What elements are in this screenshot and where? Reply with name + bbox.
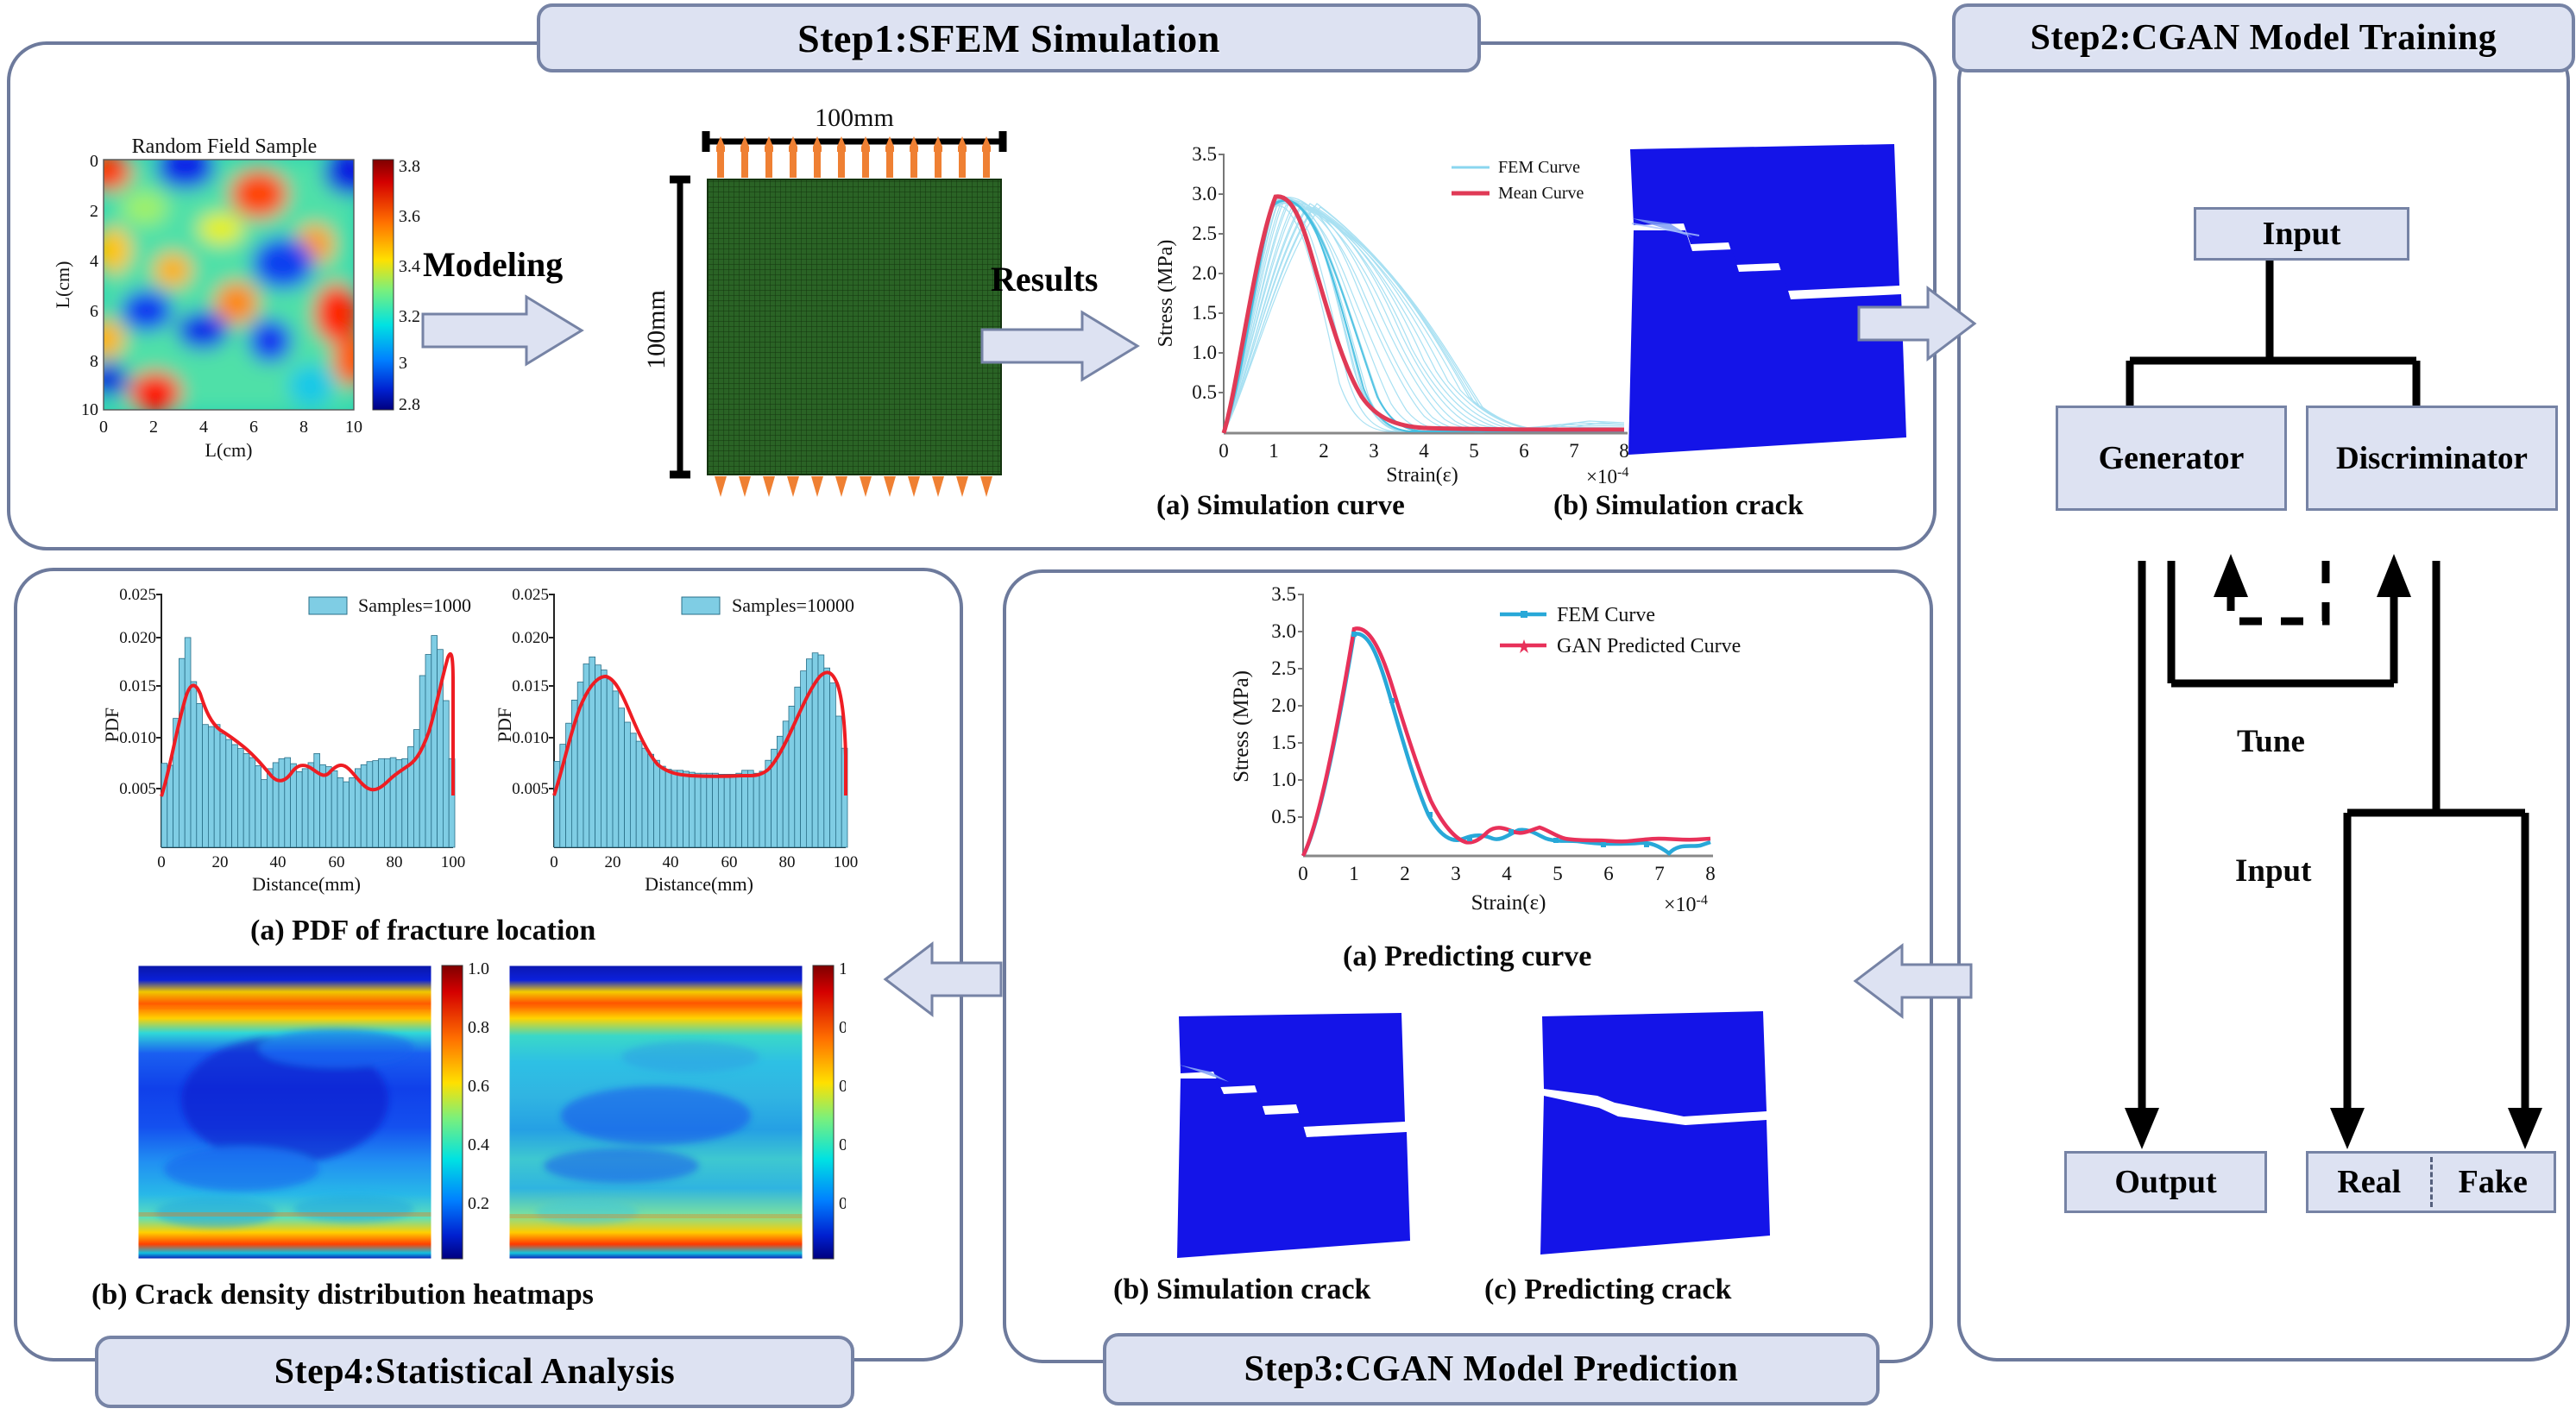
step2-label: Step2:CGAN Model Training	[1952, 3, 2575, 72]
pdf1-ytick-0.020: 0.020	[119, 629, 156, 647]
pc-legend: FEM Curve GAN Predicted Curve	[1500, 604, 1741, 657]
simulation-curve-chart: 3.5 3.0 2.5 2.0 1.5 1.0 0.5 0 1 2 3 4 5 …	[1148, 129, 1683, 492]
hm-left-tick-0.6: 0.6	[468, 1077, 489, 1096]
cgan-node-real-fake[interactable]: Real Fake	[2306, 1151, 2556, 1213]
sc-xtick-1: 1	[1269, 440, 1279, 462]
pdf1-ytick-0.015: 0.015	[119, 677, 156, 695]
rf-cbar-3: 3	[399, 354, 407, 373]
step4-label: Step4:Statistical Analysis	[95, 1336, 854, 1408]
pdf1-xlabel: Distance(mm)	[252, 873, 361, 895]
cgan-node-real: Real	[2308, 1163, 2430, 1201]
pdf1-legend-label: Samples=1000	[358, 594, 471, 616]
pc-xtick-5: 5	[1553, 863, 1563, 884]
pdf1-xtick-40: 40	[270, 853, 287, 871]
predicting-curve-chart: 3.5 3.0 2.5 2.0 1.5 1.0 0.5 0 1 2 3 4 5 …	[1208, 580, 1812, 934]
pdf1-xtick-80: 80	[387, 853, 403, 871]
pc-ytick-0.5: 0.5	[1271, 806, 1296, 827]
rf-ytick-2: 2	[90, 202, 98, 221]
rf-cbar-2.8: 2.8	[399, 395, 420, 414]
specimen-model: 100mm 100mm	[604, 104, 1053, 509]
random-field-chart: Random Field Sample	[52, 134, 466, 496]
specimen-width-label: 100mm	[815, 104, 894, 132]
pdf2-xtick-80: 80	[779, 853, 796, 871]
pdf-chart-samples-1000: 0.025 0.020 0.015 0.010 0.005 0 20 40 60…	[91, 587, 488, 915]
results-arrow-icon	[980, 309, 1140, 383]
rf-xtick-8: 8	[299, 418, 308, 437]
pc-xtick-2: 2	[1400, 863, 1410, 884]
pc-ylabel: Stress (MPa)	[1230, 670, 1253, 783]
predicting-crack-image-step3	[1532, 1006, 1791, 1273]
pc-fem-curve	[1303, 633, 1710, 856]
specimen-height-label: 100mm	[642, 290, 671, 369]
pc-xtick-7: 7	[1654, 863, 1665, 884]
rf-ytick-0: 0	[90, 152, 98, 171]
sc-legend-mean: Mean Curve	[1498, 184, 1584, 203]
modeling-arrow-icon	[421, 293, 585, 368]
simulation-crack-image-step3	[1167, 1006, 1426, 1273]
pc-xlabel: Strain(ε)	[1471, 891, 1546, 915]
step1-caption-b: (b) Simulation crack	[1553, 490, 1804, 522]
rf-ylabel: L(cm)	[52, 261, 73, 309]
rf-xtick-2: 2	[149, 418, 158, 437]
pdf1-xtick-0: 0	[157, 853, 166, 871]
pdf1-ylabel: PDF	[101, 707, 123, 742]
sc-ylabel: Stress (MPa)	[1155, 240, 1177, 348]
step3-to-step4-arrow	[882, 940, 1003, 1018]
cgan-label-input-bottom: Input	[2235, 852, 2311, 890]
pc-xtick-6: 6	[1603, 863, 1614, 884]
pdf2-xlabel: Distance(mm)	[645, 873, 753, 895]
pdf1-ytick-0.025: 0.025	[119, 587, 156, 604]
sc-ytick-3.0: 3.0	[1192, 183, 1217, 204]
pc-xtick-4: 4	[1502, 863, 1512, 884]
pdf1-xtick-100: 100	[441, 853, 466, 871]
pdf2-xtick-60: 60	[721, 853, 738, 871]
pc-xtick-8: 8	[1705, 863, 1716, 884]
cgan-label-tune: Tune	[2237, 723, 2305, 760]
pdf1-xtick-20: 20	[212, 853, 229, 871]
sc-xtick-7: 7	[1569, 440, 1579, 462]
results-arrow-label: Results	[991, 259, 1098, 299]
cgan-node-output[interactable]: Output	[2064, 1151, 2267, 1213]
pdf2-bars	[554, 653, 847, 847]
hm-right-tick-0.4: 0.4	[839, 1135, 846, 1154]
hm-left-tick-0.8: 0.8	[468, 1018, 489, 1037]
crack-density-heatmaps: 1.0 0.8 0.6 0.4 0.2 1.0 0.8 0.6	[138, 953, 846, 1273]
pdf2-ytick-0.015: 0.015	[512, 677, 549, 695]
hm-right-tick-0.2: 0.2	[839, 1194, 846, 1213]
step3-caption-c: (c) Predicting crack	[1484, 1273, 1731, 1306]
rf-ytick-10: 10	[81, 400, 98, 419]
pdf2-xtick-100: 100	[834, 853, 859, 871]
pdf1-legend: Samples=1000	[309, 594, 471, 616]
pc-ytick-2.5: 2.5	[1271, 657, 1296, 679]
sc-xtick-4: 4	[1419, 440, 1429, 462]
sc-xlabel: Strain(ε)	[1386, 464, 1458, 487]
heatmap-right	[509, 965, 803, 1259]
pdf1-ytick-0.010: 0.010	[119, 729, 156, 747]
pdf-chart-samples-10000: 0.025 0.020 0.015 0.010 0.005 0 20 40 60…	[483, 587, 880, 915]
sc-xtick-5: 5	[1469, 440, 1479, 462]
pc-gan-curve	[1303, 628, 1710, 856]
step4-caption-a: (a) PDF of fracture location	[250, 915, 595, 947]
sc-xtick-6: 6	[1519, 440, 1529, 462]
pdf2-xtick-0: 0	[550, 853, 558, 871]
pc-xtick-1: 1	[1349, 863, 1359, 884]
rf-cbar-3.8: 3.8	[399, 157, 420, 176]
step3-caption-b: (b) Simulation crack	[1113, 1273, 1370, 1306]
heatmap-right-cbar-ticks: 1.0 0.8 0.6 0.4 0.2	[839, 959, 846, 1213]
pc-fem-markers	[1351, 632, 1649, 847]
modeling-arrow-label: Modeling	[423, 244, 563, 285]
sc-legend-fem: FEM Curve	[1498, 158, 1580, 177]
sc-ytick-0.5: 0.5	[1192, 381, 1217, 403]
sc-xtick-2: 2	[1319, 440, 1329, 462]
rf-cbar-3.6: 3.6	[399, 207, 420, 226]
cgan-flow-diagram	[1985, 155, 2554, 1286]
pc-x-exponent: ×10-4	[1664, 893, 1708, 917]
heatmap-left	[138, 965, 431, 1259]
heatmap-left-cbar-ticks: 1.0 0.8 0.6 0.4 0.2	[468, 959, 489, 1213]
pc-ytick-1.0: 1.0	[1271, 769, 1296, 790]
hm-left-tick-0.2: 0.2	[468, 1194, 489, 1213]
hm-right-tick-0.6: 0.6	[839, 1077, 846, 1096]
pc-xtick-3: 3	[1451, 863, 1461, 884]
rf-xtick-6: 6	[249, 418, 258, 437]
rf-xtick-4: 4	[199, 418, 208, 437]
pdf2-ytick-0.005: 0.005	[512, 780, 549, 798]
pdf2-ytick-0.020: 0.020	[512, 629, 549, 647]
rf-ytick-8: 8	[90, 352, 98, 371]
pc-legend-gan: GAN Predicted Curve	[1557, 635, 1741, 657]
pdf2-xtick-40: 40	[663, 853, 679, 871]
sc-ytick-2.5: 2.5	[1192, 223, 1217, 244]
cgan-node-fake: Fake	[2433, 1163, 2554, 1201]
rf-ytick-6: 6	[90, 302, 98, 321]
pdf2-ytick-0.025: 0.025	[512, 587, 549, 604]
rf-cbar-3.4: 3.4	[399, 257, 420, 276]
rf-xlabel: L(cm)	[205, 439, 253, 461]
pdf2-xtick-20: 20	[605, 853, 621, 871]
hm-right-tick-0.8: 0.8	[839, 1018, 846, 1037]
sc-ytick-2.0: 2.0	[1192, 262, 1217, 284]
sc-xtick-0: 0	[1219, 440, 1229, 462]
step1-to-step2-arrow	[1857, 285, 1978, 362]
support-triangles-bottom	[715, 476, 992, 497]
pdf2-ylabel: PDF	[494, 707, 515, 742]
pdf2-legend: Samples=10000	[682, 594, 854, 616]
hm-right-tick-1.0: 1.0	[839, 959, 846, 978]
step4-caption-b: (b) Crack density distribution heatmaps	[91, 1279, 594, 1311]
step1-label: Step1:SFEM Simulation	[537, 3, 1481, 72]
rf-xtick-0: 0	[99, 418, 108, 437]
pdf2-legend-label: Samples=10000	[732, 594, 854, 616]
cgan-node-input-top[interactable]: Input	[2194, 207, 2409, 261]
hm-left-tick-0.4: 0.4	[468, 1135, 489, 1154]
step2-to-step3-arrow	[1852, 942, 1973, 1020]
sc-ytick-3.5: 3.5	[1192, 143, 1217, 165]
pdf2-ytick-0.010: 0.010	[512, 729, 549, 747]
cgan-node-discriminator[interactable]: Discriminator	[2306, 406, 2558, 511]
step3-label: Step3:CGAN Model Prediction	[1103, 1333, 1880, 1406]
pc-legend-fem: FEM Curve	[1557, 604, 1655, 626]
random-field-title: Random Field Sample	[132, 135, 318, 158]
pdf1-ytick-0.005: 0.005	[119, 780, 156, 798]
pc-xtick-0: 0	[1298, 863, 1308, 884]
pc-ytick-1.5: 1.5	[1271, 732, 1296, 753]
sc-ytick-1.0: 1.0	[1192, 342, 1217, 363]
pc-ytick-3.5: 3.5	[1271, 583, 1296, 605]
hm-left-tick-1.0: 1.0	[468, 959, 489, 978]
rf-cbar-3.2: 3.2	[399, 307, 420, 326]
step3-caption-a: (a) Predicting curve	[1343, 940, 1591, 973]
pc-ytick-2.0: 2.0	[1271, 695, 1296, 716]
pdf1-bars	[161, 636, 455, 847]
step1-caption-a: (a) Simulation curve	[1156, 490, 1405, 522]
rf-xtick-10: 10	[345, 418, 362, 437]
rf-ytick-4: 4	[90, 252, 98, 271]
sc-legend: FEM Curve Mean Curve	[1452, 158, 1584, 203]
pdf1-xtick-60: 60	[329, 853, 345, 871]
cgan-node-generator[interactable]: Generator	[2056, 406, 2287, 511]
pc-ytick-3.0: 3.0	[1271, 620, 1296, 642]
sc-xtick-3: 3	[1369, 440, 1379, 462]
sc-ytick-1.5: 1.5	[1192, 302, 1217, 324]
